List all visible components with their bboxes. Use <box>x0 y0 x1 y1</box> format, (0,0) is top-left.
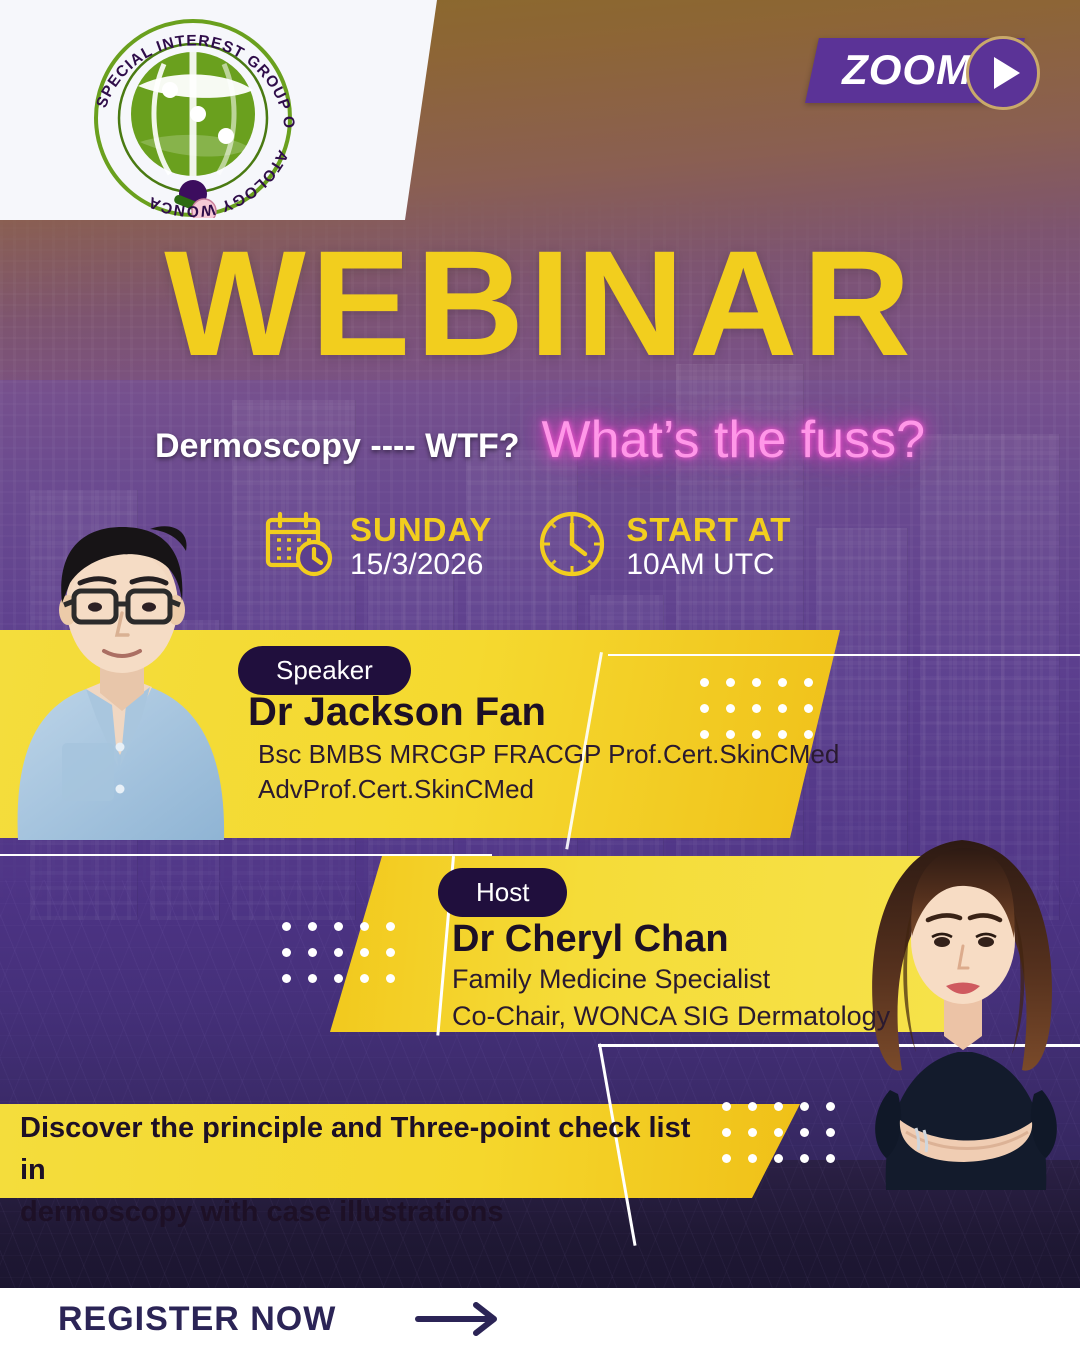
speaker-credentials-line-2: AdvProf.Cert.SkinCMed <box>258 772 839 807</box>
schedule-row: SUNDAY 15/3/2026 START AT 10AM UTC <box>262 506 791 587</box>
wonca-sig-dermatology-logo: SPECIAL INTEREST GROUP ON DERM ATOLOGY W… <box>78 6 308 218</box>
description-line-1: Discover the principle and Three-point c… <box>20 1108 720 1192</box>
date-block: SUNDAY 15/3/2026 <box>262 508 492 585</box>
host-titles: Family Medicine Specialist Co-Chair, WON… <box>452 961 890 1036</box>
speaker-credentials: Bsc BMBS MRCGP FRACGP Prof.Cert.SkinCMed… <box>258 737 839 807</box>
register-now-button[interactable]: REGISTER NOW <box>58 1300 336 1339</box>
host-title-line-1: Family Medicine Specialist <box>452 961 890 998</box>
description-dot-grid <box>722 1102 835 1163</box>
arrow-right-icon[interactable] <box>414 1302 506 1336</box>
clock-icon <box>534 506 610 587</box>
speaker-dot-grid <box>700 678 813 739</box>
host-name: Dr Cheryl Chan <box>452 918 729 961</box>
zoom-label: ZOOM <box>842 46 972 94</box>
description-text: Discover the principle and Three-point c… <box>20 1108 720 1233</box>
host-role-badge: Host <box>438 868 567 917</box>
host-title-line-2: Co-Chair, WONCA SIG Dermatology <box>452 998 890 1035</box>
speaker-role-badge: Speaker <box>238 646 411 695</box>
zoom-platform-badge[interactable]: ZOOM <box>812 38 1018 103</box>
webinar-poster: SPECIAL INTEREST GROUP ON DERM ATOLOGY W… <box>0 0 1080 1350</box>
description-line-2: dermoscopy with case illustrations <box>20 1192 720 1234</box>
footer-bar: REGISTER NOW <box>0 1288 1080 1350</box>
speaker-frame-line <box>608 654 1080 656</box>
schedule-time: 10AM UTC <box>626 548 791 581</box>
calendar-clock-icon <box>262 508 334 585</box>
host-dot-grid <box>282 922 395 983</box>
speaker-credentials-line-1: Bsc BMBS MRCGP FRACGP Prof.Cert.SkinCMed <box>258 737 839 772</box>
schedule-date: 15/3/2026 <box>350 548 492 581</box>
time-block: START AT 10AM UTC <box>534 506 791 587</box>
host-frame-line <box>0 854 492 856</box>
speaker-name: Dr Jackson Fan <box>248 690 546 735</box>
subtitle-right: What’s the fuss? <box>542 410 925 470</box>
schedule-start-label: START AT <box>626 512 791 548</box>
page-title: WEBINAR <box>0 228 1080 378</box>
play-icon[interactable] <box>966 36 1040 110</box>
speaker-portrait <box>0 455 250 840</box>
schedule-day: SUNDAY <box>350 512 492 548</box>
